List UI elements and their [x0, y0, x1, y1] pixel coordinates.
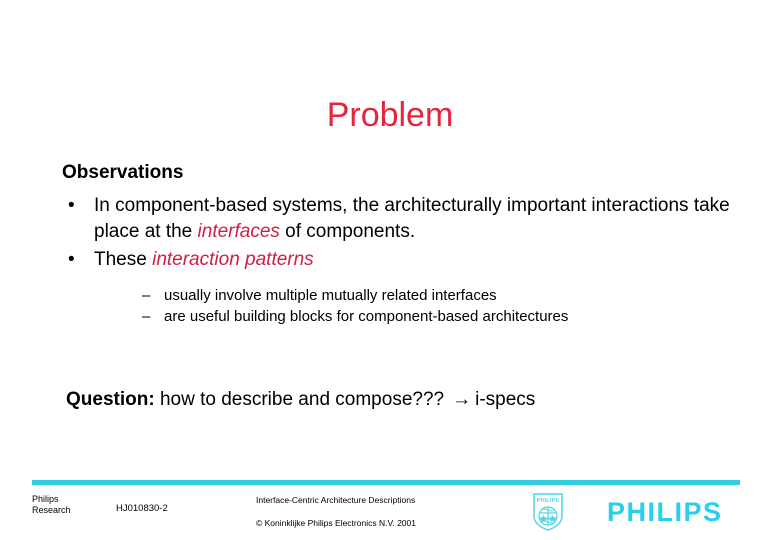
emphasis-interaction-patterns: interaction patterns — [152, 249, 314, 270]
slide-body: Observations • In component-based system… — [62, 161, 742, 329]
philips-shield-logo-icon: PHILIPS — [533, 493, 563, 531]
dash-marker-icon: – — [142, 285, 150, 306]
sub-bullet-text: are useful building blocks for component… — [164, 308, 568, 325]
svg-text:PHILIPS: PHILIPS — [537, 498, 560, 504]
footer-divider — [32, 480, 740, 485]
organization-name: Philips Research — [32, 494, 71, 516]
footer-center-text: Interface-Centric Architecture Descripti… — [256, 494, 416, 529]
organization-line-2: Research — [32, 505, 71, 516]
sub-bullet-text: usually involve multiple mutually relate… — [164, 287, 497, 304]
right-arrow-icon: → — [444, 389, 475, 410]
question-text: how to describe and compose??? — [160, 389, 444, 410]
copyright-notice: © Koninklijke Philips Electronics N.V. 2… — [256, 517, 416, 529]
document-id: HJ010830-2 — [116, 503, 168, 515]
dash-marker-icon: – — [142, 306, 150, 327]
philips-wordmark: PHILIPS — [607, 497, 723, 528]
list-item: • These interaction patterns – usually i… — [62, 247, 742, 327]
list-item: • In component-based systems, the archit… — [62, 193, 742, 245]
question-label: Question: — [66, 389, 155, 410]
emphasis-interfaces: interfaces — [198, 221, 280, 242]
bullet-text-part: of components. — [280, 221, 415, 242]
bullet-list-level1: • In component-based systems, the archit… — [62, 193, 742, 327]
organization-line-1: Philips — [32, 494, 71, 505]
bullet-list-level2: – usually involve multiple mutually rela… — [94, 285, 742, 327]
list-item: – usually involve multiple mutually rela… — [142, 285, 742, 306]
section-heading: Observations — [62, 161, 742, 185]
list-item: – are useful building blocks for compone… — [142, 306, 742, 327]
question-answer: i-specs — [475, 389, 535, 410]
bullet-marker-icon: • — [68, 247, 75, 273]
slide-canvas: Problem Observations • In component-base… — [0, 0, 780, 540]
bullet-text-part: These — [94, 249, 152, 270]
presentation-title: Interface-Centric Architecture Descripti… — [256, 495, 415, 505]
question-statement: Question: how to describe and compose???… — [66, 388, 535, 412]
bullet-marker-icon: • — [68, 193, 75, 219]
page-title: Problem — [0, 95, 780, 135]
